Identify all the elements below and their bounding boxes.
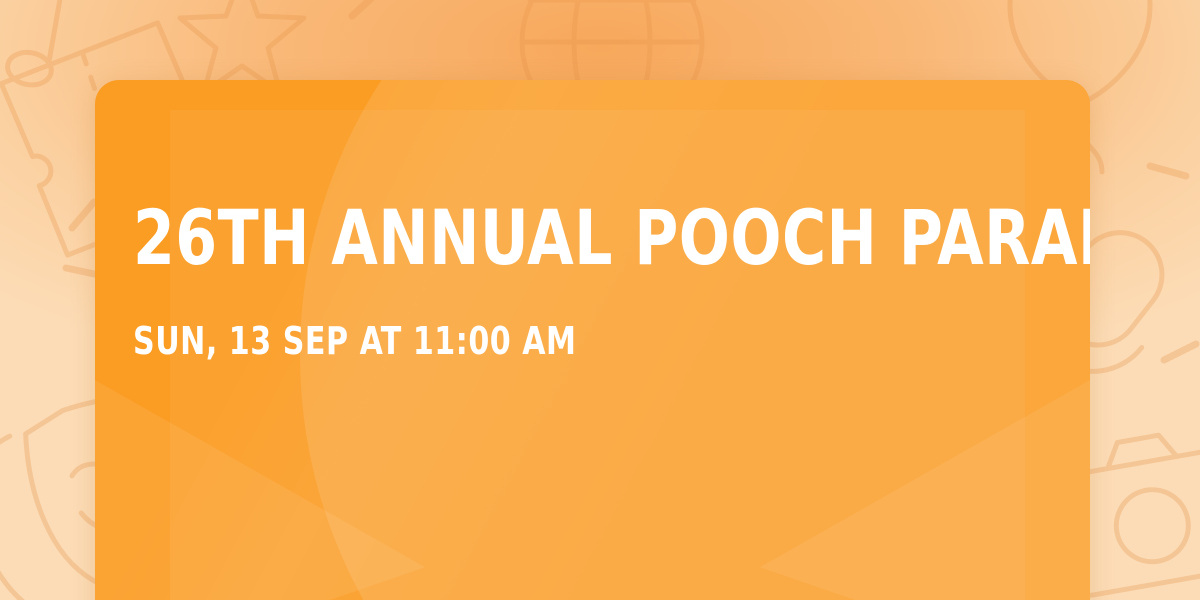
event-banner: 26TH ANNUAL POOCH PARADE SUN, 13 SEP AT … bbox=[0, 0, 1200, 600]
event-title: 26TH ANNUAL POOCH PARADE bbox=[133, 200, 940, 276]
event-card[interactable]: 26TH ANNUAL POOCH PARADE SUN, 13 SEP AT … bbox=[95, 80, 1090, 600]
event-text-block: 26TH ANNUAL POOCH PARADE SUN, 13 SEP AT … bbox=[133, 200, 1050, 360]
music-note-icon bbox=[0, 0, 70, 106]
star-icon bbox=[180, 0, 304, 92]
event-datetime: SUN, 13 SEP AT 11:00 AM bbox=[133, 322, 940, 360]
